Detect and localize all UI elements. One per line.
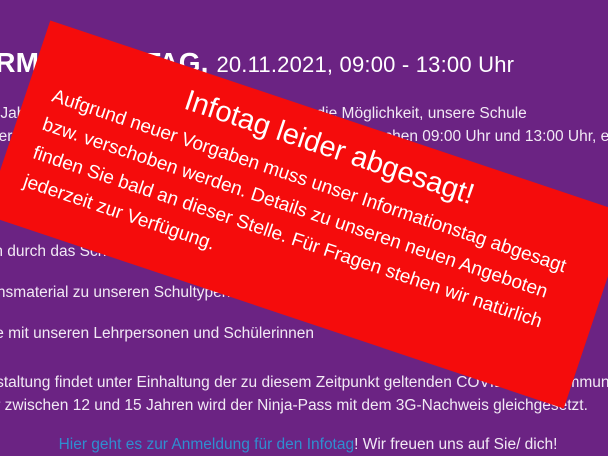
page-title-detail: 20.11.2021, 09:00 - 13:00 Uhr — [216, 52, 514, 77]
signup-tail-text: ! Wir freuen uns auf Sie/ dich! — [354, 436, 557, 453]
page-root: INFORMATIONSTAG, 20.11.2021, 09:00 - 13:… — [0, 0, 608, 456]
signup-link[interactable]: Hier geht es zur Anmeldung für den Infot… — [59, 436, 355, 453]
covid-line-2: Für Kinder zwischen 12 und 15 Jahren wir… — [0, 394, 588, 417]
list-item: Gespräche mit unseren Lehrpersonen und S… — [0, 313, 341, 354]
signup-line: Hier geht es zur Anmeldung für den Infot… — [0, 433, 608, 456]
